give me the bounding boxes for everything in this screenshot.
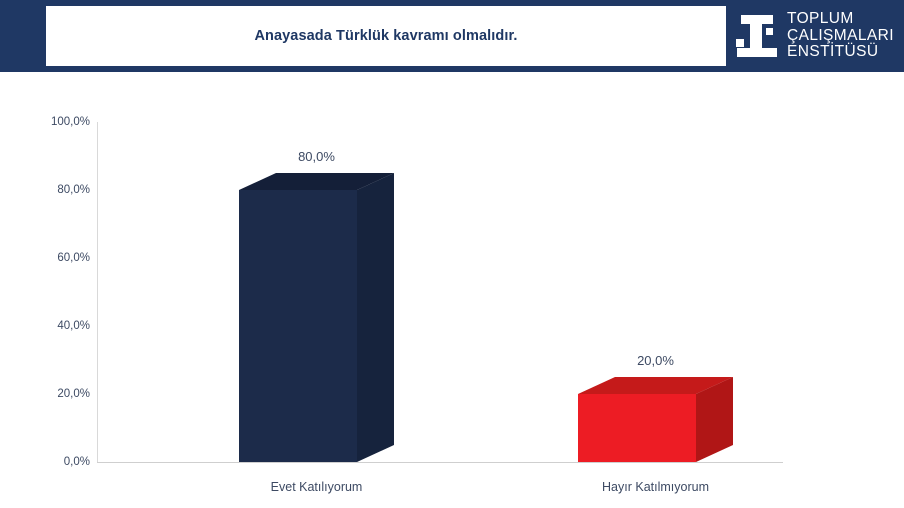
x-axis-category-label: Evet Katılıyorum xyxy=(271,480,363,494)
header-band: Anayasada Türklük kavramı olmalıdır. TOP… xyxy=(0,0,904,72)
x-axis-line xyxy=(97,462,783,463)
institute-column-mark-icon xyxy=(735,10,781,62)
logo-square-upper xyxy=(766,28,773,35)
bar-3d xyxy=(578,377,733,462)
bar-value-label: 80,0% xyxy=(287,149,347,164)
page-title: Anayasada Türklük kavramı olmalıdır. xyxy=(254,28,517,44)
bar-value-label: 20,0% xyxy=(626,353,686,368)
logo-bottom-bar xyxy=(737,48,777,57)
bar-front-face xyxy=(239,190,357,462)
logo-line-2: ÇALIŞMALARI xyxy=(787,28,894,45)
y-axis-tick-label: 100,0% xyxy=(34,116,90,128)
y-axis-tick-label: 40,0% xyxy=(34,320,90,332)
institute-logo: TOPLUM ÇALIŞMALARI ENSTİTÜSÜ xyxy=(727,0,904,72)
y-axis-tick-label: 0,0% xyxy=(34,456,90,468)
bar-front-face xyxy=(578,394,696,462)
bar-3d xyxy=(239,173,394,462)
bar-side-face xyxy=(357,173,394,462)
logo-line-3: ENSTİTÜSÜ xyxy=(787,44,894,61)
header-title-panel: Anayasada Türklük kavramı olmalıdır. xyxy=(46,6,726,66)
y-axis-tick-label: 60,0% xyxy=(34,252,90,264)
y-axis-tick-label: 80,0% xyxy=(34,184,90,196)
logo-square-lower xyxy=(736,39,744,47)
logo-line-1: TOPLUM xyxy=(787,11,894,28)
x-axis-category-label: Hayır Katılmıyorum xyxy=(602,480,709,494)
y-axis-line xyxy=(97,122,98,463)
y-axis-tick-label: 20,0% xyxy=(34,388,90,400)
chart-plot-area: 100,0%80,0%60,0%40,0%20,0%0,0% 80,0%20,0… xyxy=(0,72,904,508)
logo-wordmark: TOPLUM ÇALIŞMALARI ENSTİTÜSÜ xyxy=(787,11,894,61)
y-axis-tick-labels: 100,0%80,0%60,0%40,0%20,0%0,0% xyxy=(32,72,90,508)
